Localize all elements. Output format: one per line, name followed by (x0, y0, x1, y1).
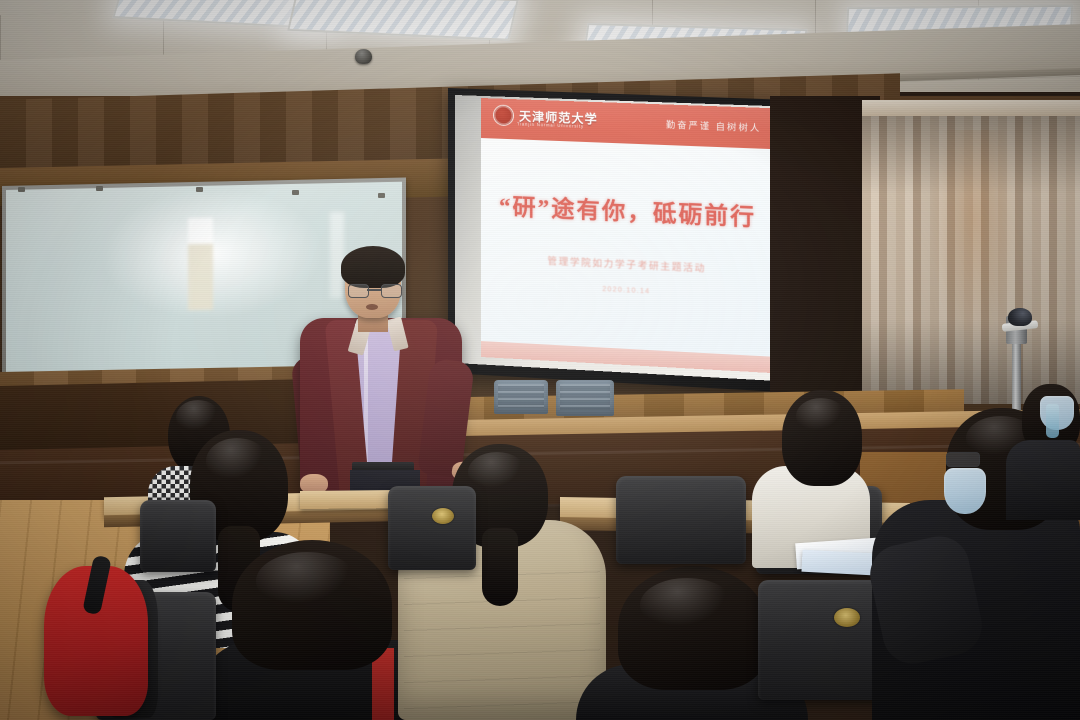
chair-emblem (432, 508, 454, 524)
chair-emblem (834, 608, 860, 627)
hair-highlight (796, 398, 846, 434)
whiteboard-reflection (188, 218, 213, 311)
glasses-lens-right (381, 284, 402, 298)
hair-highlight (468, 452, 526, 492)
whiteboard-clip (378, 193, 385, 198)
hair-highlight (206, 438, 268, 484)
water-bottle (1046, 404, 1059, 438)
lecture-hall-photo: 天津师范大学 Tianjin Normal University 勤奋严谨 自树… (0, 0, 1080, 720)
glasses-lens-left (348, 284, 369, 298)
hair-highlight (256, 552, 358, 610)
whiteboard-reflection (330, 212, 344, 298)
curtain-shading (862, 104, 1080, 404)
stacked-chair (556, 380, 614, 416)
face-mask (944, 468, 986, 514)
whiteboard-clip (96, 186, 103, 191)
speaker-mouth (366, 304, 378, 310)
audience-torso (1006, 440, 1080, 520)
slide-subtitle: 管理学院如力学子考研主题活动 (481, 250, 775, 278)
whiteboard-clip (292, 190, 299, 195)
stacked-chair (494, 380, 548, 414)
slide-date: 2020.10.14 (481, 280, 775, 302)
chair (140, 500, 216, 572)
eyeglasses-icon (348, 284, 400, 297)
speaker-hair (341, 246, 405, 288)
video-camera-icon (1008, 308, 1032, 326)
hair-highlight (640, 578, 734, 632)
eyeglasses-icon (946, 452, 980, 467)
hair-highlight (176, 400, 220, 434)
presentation-slide: 天津师范大学 Tianjin Normal University 勤奋严谨 自树… (481, 98, 775, 373)
whiteboard-clip (196, 187, 203, 192)
whiteboard-clip (18, 187, 25, 192)
chair (388, 486, 476, 570)
curtain-rail (862, 100, 1080, 116)
university-seal-icon (493, 104, 514, 126)
slide-title: “研”途有你，砥砺前行 (481, 186, 775, 233)
dome-camera-icon (355, 49, 372, 64)
chair (616, 476, 746, 564)
audience-ponytail (482, 528, 518, 606)
glasses-bridge (367, 289, 381, 291)
